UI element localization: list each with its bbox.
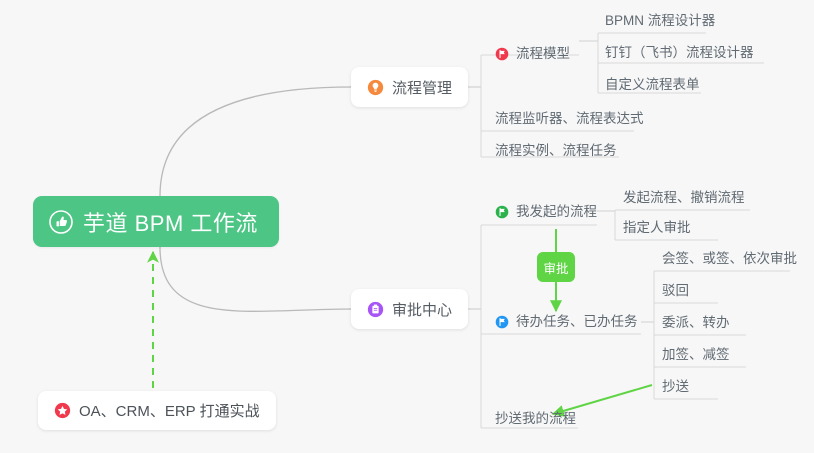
root-node-label: 芋道 BPM 工作流 <box>83 206 258 238</box>
node-process-instance-task-label: 流程实例、流程任务 <box>495 144 617 158</box>
node-reject-label: 驳回 <box>662 284 689 298</box>
node-start-cancel-process[interactable]: 发起流程、撤销流程 <box>623 191 745 205</box>
node-carbon-copy[interactable]: 抄送 <box>662 380 689 394</box>
flag-circle-icon <box>495 205 509 219</box>
node-custom-process-form-label: 自定义流程表单 <box>605 78 700 92</box>
root-node[interactable]: 芋道 BPM 工作流 <box>33 196 279 247</box>
node-approval-center[interactable]: 审批中心 <box>351 289 468 329</box>
star-circle-icon <box>54 402 71 419</box>
node-todo-done-tasks-label: 待办任务、已办任务 <box>516 315 638 329</box>
node-process-management-label: 流程管理 <box>392 77 452 98</box>
node-process-listener-expression[interactable]: 流程监听器、流程表达式 <box>495 112 644 126</box>
approval-badge-label: 审批 <box>543 258 568 277</box>
node-bpmn-designer[interactable]: BPMN 流程设计器 <box>605 14 715 28</box>
node-carbon-copy-label: 抄送 <box>662 380 689 394</box>
node-dingtalk-feishu-designer[interactable]: 钉钉（飞书）流程设计器 <box>605 46 754 60</box>
node-process-instance-task[interactable]: 流程实例、流程任务 <box>495 144 617 158</box>
node-oa-crm-erp[interactable]: OA、CRM、ERP 打通实战 <box>38 391 276 430</box>
node-oa-crm-erp-label: OA、CRM、ERP 打通实战 <box>79 400 260 421</box>
node-cc-to-me-process[interactable]: 抄送我的流程 <box>495 412 576 426</box>
mindmap-canvas: 芋道 BPM 工作流 流程管理 审批中心 <box>0 0 814 453</box>
flag-circle-icon <box>495 47 509 61</box>
flag-circle-icon <box>495 315 509 329</box>
thumbs-up-circle-icon <box>49 210 73 234</box>
node-countersign-orsign-sequential-label: 会签、或签、依次审批 <box>662 252 797 266</box>
node-process-listener-expression-label: 流程监听器、流程表达式 <box>495 112 644 126</box>
node-start-cancel-process-label: 发起流程、撤销流程 <box>623 191 745 205</box>
node-process-model-label: 流程模型 <box>516 47 570 61</box>
node-my-initiated-process-label: 我发起的流程 <box>516 205 597 219</box>
node-assignee-approval[interactable]: 指定人审批 <box>623 221 691 235</box>
node-process-management[interactable]: 流程管理 <box>351 67 468 107</box>
arrow-carbon-copy-to-cc-process <box>553 385 652 414</box>
node-delegate-transfer[interactable]: 委派、转办 <box>662 316 730 330</box>
node-add-remove-sign[interactable]: 加签、减签 <box>662 348 730 362</box>
node-bpmn-designer-label: BPMN 流程设计器 <box>605 14 715 28</box>
approval-badge: 审批 <box>537 252 575 282</box>
node-cc-to-me-process-label: 抄送我的流程 <box>495 412 576 426</box>
node-dingtalk-feishu-designer-label: 钉钉（飞书）流程设计器 <box>605 46 754 60</box>
node-my-initiated-process[interactable]: 我发起的流程 <box>495 205 597 219</box>
connector-root-to-process-management <box>160 87 351 196</box>
connector-root-to-approval-center <box>160 247 351 311</box>
clipboard-circle-icon <box>367 301 384 318</box>
node-approval-center-label: 审批中心 <box>392 299 452 320</box>
node-assignee-approval-label: 指定人审批 <box>623 221 691 235</box>
node-add-remove-sign-label: 加签、减签 <box>662 348 730 362</box>
node-process-model[interactable]: 流程模型 <box>495 47 570 61</box>
node-countersign-orsign-sequential[interactable]: 会签、或签、依次审批 <box>662 252 797 266</box>
node-todo-done-tasks[interactable]: 待办任务、已办任务 <box>495 315 638 329</box>
node-delegate-transfer-label: 委派、转办 <box>662 316 730 330</box>
node-reject[interactable]: 驳回 <box>662 284 689 298</box>
lightbulb-circle-icon <box>367 79 384 96</box>
node-custom-process-form[interactable]: 自定义流程表单 <box>605 78 700 92</box>
